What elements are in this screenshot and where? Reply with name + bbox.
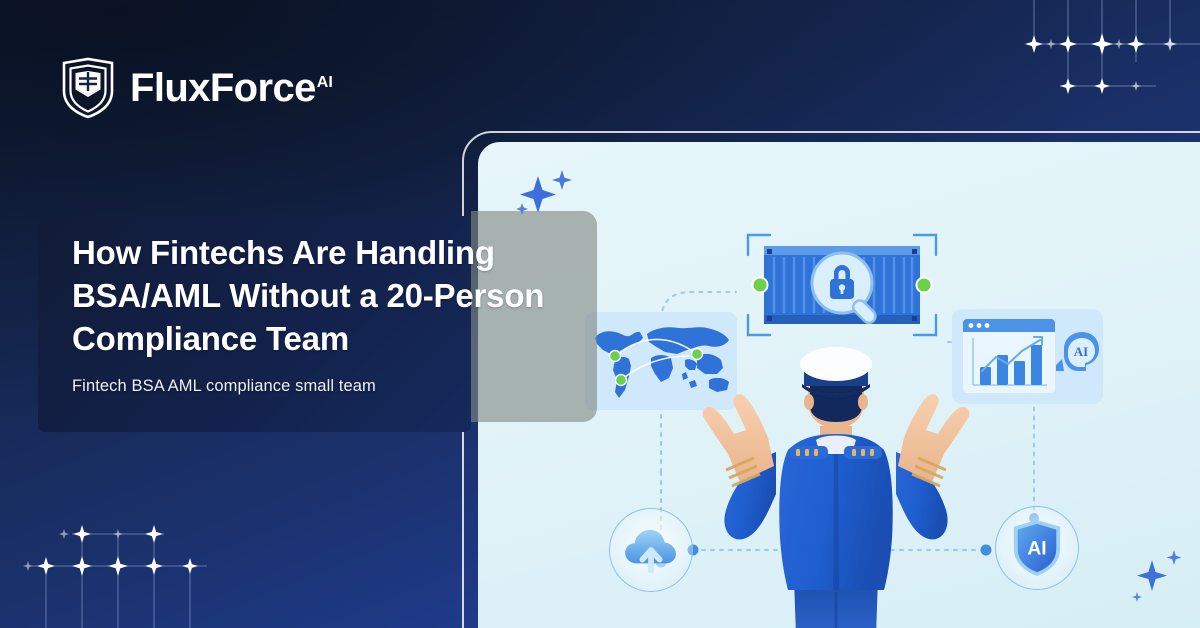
shield-icon	[60, 57, 116, 119]
ai-shield-node[interactable]: AI	[995, 506, 1079, 590]
secure-container-node[interactable]	[744, 229, 940, 341]
container-lock-icon	[744, 229, 940, 341]
page-title: How Fintechs Are Handling BSA/AML Withou…	[72, 232, 612, 361]
hero-banner: FluxForceAI	[0, 0, 1200, 628]
ai-shield-label: AI	[1027, 539, 1046, 560]
compliance-officer-figure	[676, 342, 996, 628]
brand-superscript: AI	[317, 74, 333, 91]
brand-name-text: FluxForce	[130, 66, 316, 110]
hero-text-block: How Fintechs Are Handling BSA/AML Withou…	[72, 232, 612, 396]
cloud-upload-icon	[622, 527, 680, 573]
brand-name: FluxForceAI	[130, 68, 333, 108]
page-subtitle: Fintech BSA AML compliance small team	[72, 377, 612, 396]
brand-logo[interactable]: FluxForceAI	[60, 57, 333, 119]
svg-text:AI: AI	[1074, 344, 1088, 359]
ai-shield-icon: AI	[1010, 518, 1064, 578]
ai-brain-icon: AI	[1056, 332, 1099, 371]
